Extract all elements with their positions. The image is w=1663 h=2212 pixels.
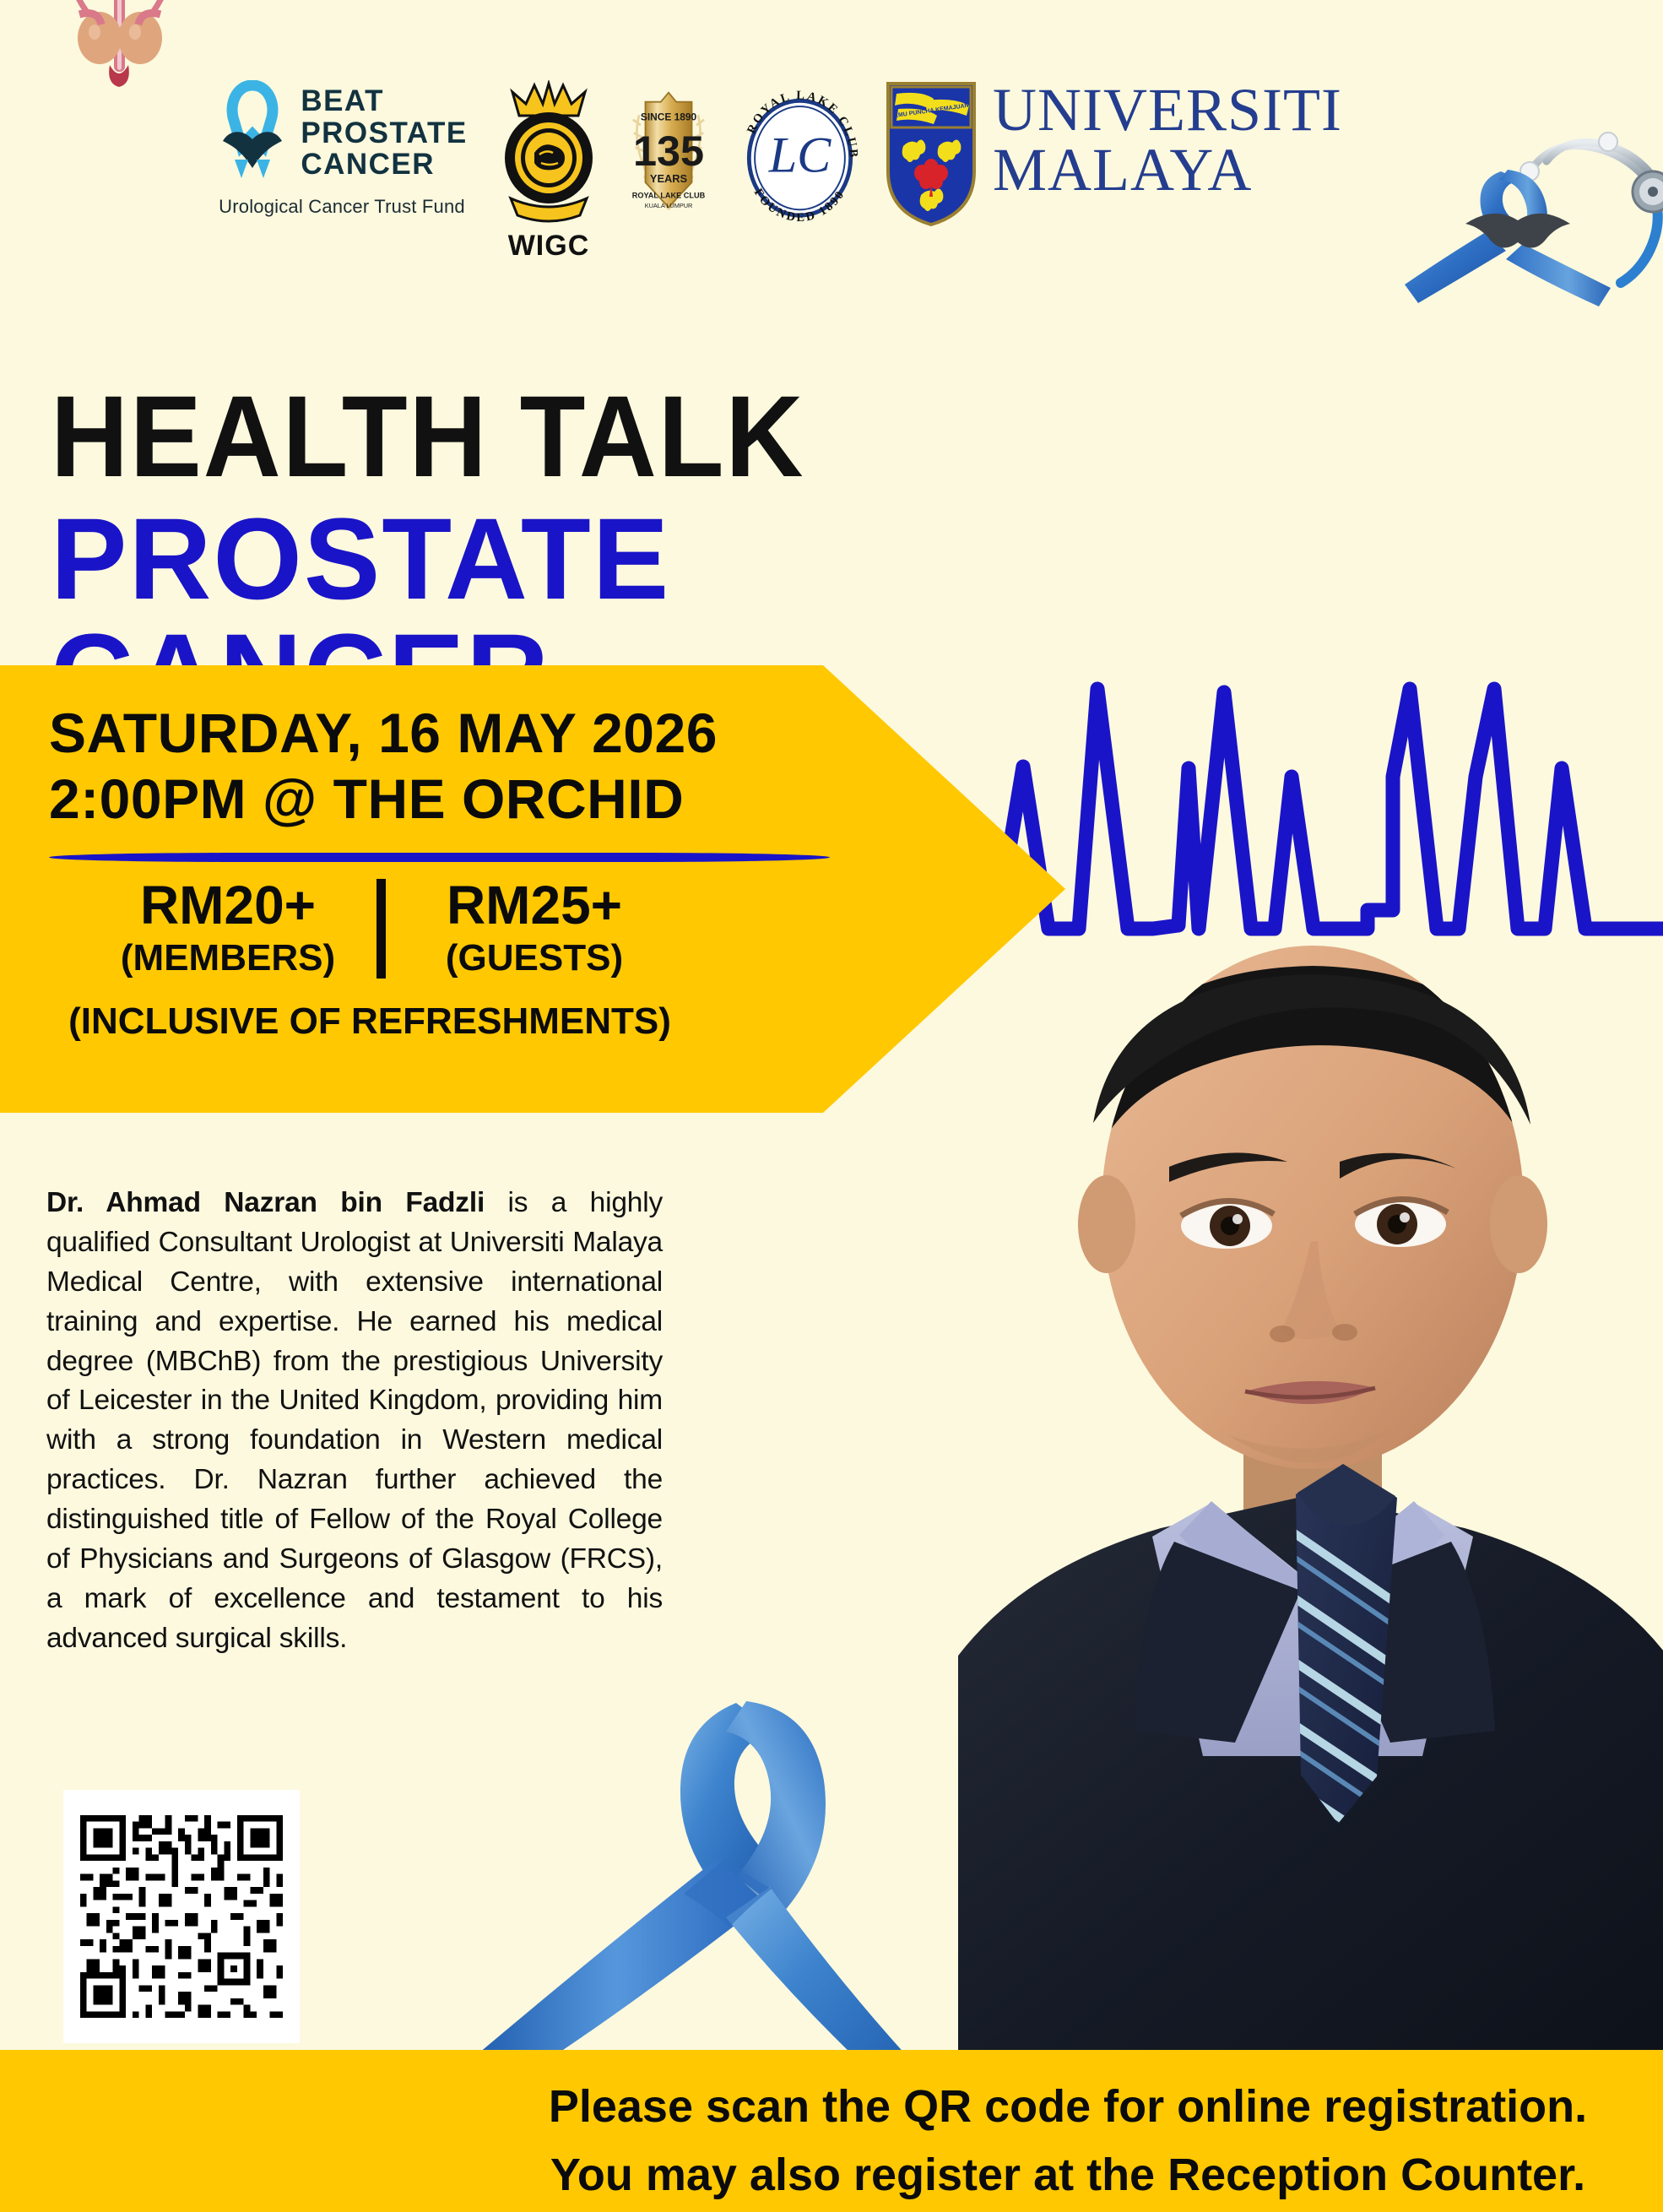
mga-crest-icon — [494, 80, 604, 228]
qr-code-container[interactable] — [63, 1790, 300, 2043]
footer-line-1: Please scan the QR code for online regis… — [473, 2073, 1663, 2141]
logo-royal-lake-club: ROYAL LAKE CLUB FOUNDED 1890 LC — [730, 80, 869, 224]
event-time-venue: 2:00PM @ THE ORCHID — [49, 767, 823, 832]
prostate-anatomy-icon — [0, 0, 219, 114]
logo-malaysian-golf-association: WIGC — [494, 80, 604, 263]
rlc-monogram: LC — [768, 127, 831, 184]
price-row: RM20+ (MEMBERS) RM25+ (GUESTS) — [49, 877, 823, 980]
event-date: SATURDAY, 16 MAY 2026 — [49, 701, 823, 767]
banner-divider — [49, 853, 830, 862]
um-word-2: MALAYA — [993, 140, 1342, 200]
badge-club-text: ROYAL LAKE CLUB — [632, 191, 706, 199]
price-members-label: (MEMBERS) — [121, 937, 335, 980]
speaker-portrait — [958, 844, 1663, 2128]
awareness-ribbon-mustache-icon — [216, 80, 289, 186]
awareness-ribbon-icon — [439, 1684, 979, 2090]
footer-line-2: You may also register at the Reception C… — [473, 2141, 1663, 2209]
price-guests-amount: RM25+ — [447, 877, 622, 934]
um-word-1: UNIVERSITI — [993, 80, 1342, 140]
logo-bpc-subtitle: Urological Cancer Trust Fund — [219, 196, 465, 218]
sponsor-logo-row: BEAT PROSTATE CANCER Urological Cancer T… — [207, 80, 1342, 263]
price-separator — [376, 879, 386, 979]
logo-universiti-malaya-crest: ILMU PUNCHA KEMAJUAN — [885, 80, 978, 228]
speaker-bio-text: is a highly qualified Consultant Urologi… — [46, 1187, 663, 1654]
logo-bpc-line2: PROSTATE — [301, 117, 467, 149]
logo-bpc-line1: BEAT — [301, 85, 467, 117]
price-members: RM20+ (MEMBERS) — [101, 877, 355, 980]
footer-text-block: Please scan the QR code for online regis… — [473, 2073, 1663, 2209]
badge-number-text: 135 — [633, 127, 704, 175]
poster-root: BEAT PROSTATE CANCER Urological Cancer T… — [0, 0, 1663, 2212]
badge-years-text: YEARS — [650, 172, 688, 185]
logo-universiti-malaya-wordmark: UNIVERSITI MALAYA — [993, 80, 1342, 199]
headline-line-1: HEALTH TALK — [51, 382, 1071, 493]
ribbon-mustache-stethoscope-decoration — [1366, 106, 1663, 308]
logo-beat-prostate-cancer: BEAT PROSTATE CANCER Urological Cancer T… — [207, 80, 477, 218]
badge-city-text: KUALA LUMPUR — [645, 202, 693, 209]
inclusive-note: (INCLUSIVE OF REFRESHMENTS) — [49, 1000, 691, 1043]
badge-since-text: SINCE 1890 — [641, 111, 697, 123]
logo-wigc-caption: WIGC — [508, 230, 590, 263]
logo-135-years-badge: SINCE 1890 135 YEARS ROYAL LAKE CLUB KUA… — [622, 80, 715, 224]
price-guests-label: (GUESTS) — [446, 937, 623, 980]
speaker-bio: Dr. Ahmad Nazran bin Fadzli is a highly … — [46, 1184, 663, 1659]
price-guests: RM25+ (GUESTS) — [408, 877, 661, 980]
qr-code-icon[interactable] — [73, 1800, 290, 2033]
speaker-name: Dr. Ahmad Nazran bin Fadzli — [46, 1187, 485, 1218]
price-members-amount: RM20+ — [140, 877, 316, 934]
logo-bpc-line3: CANCER — [301, 149, 467, 181]
